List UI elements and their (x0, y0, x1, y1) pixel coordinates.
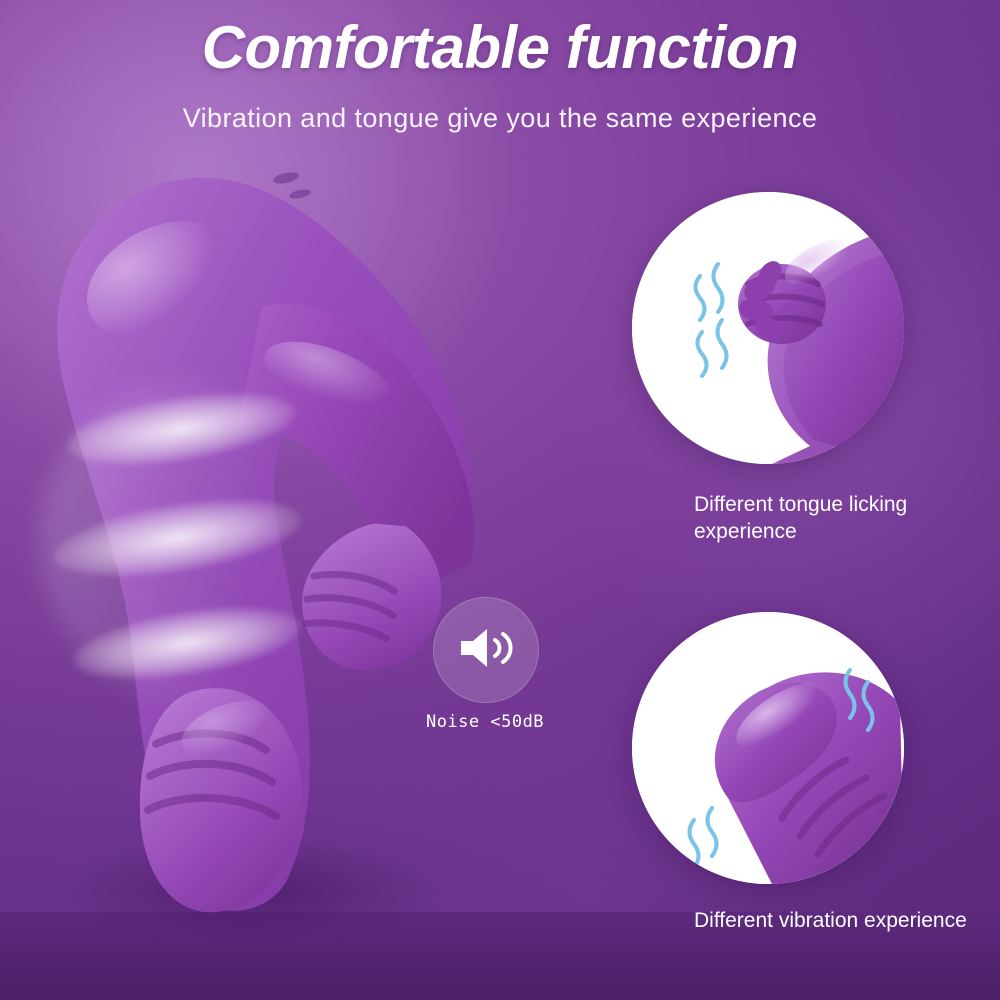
inset-tongue-caption: Different tongue licking experience (694, 492, 974, 546)
noise-label: Noise <50dB (390, 712, 580, 732)
promo-banner: Comfortable function Vibration and tongu… (0, 0, 1000, 1000)
noise-badge (433, 597, 539, 703)
inset-vibration (632, 612, 904, 884)
page-title: Comfortable function (0, 16, 1000, 79)
page-subtitle: Vibration and tongue give you the same e… (0, 103, 1000, 134)
inset-tongue-licking (632, 192, 904, 464)
speaker-icon (457, 624, 515, 677)
inset-vibration-caption: Different vibration experience (694, 908, 974, 935)
